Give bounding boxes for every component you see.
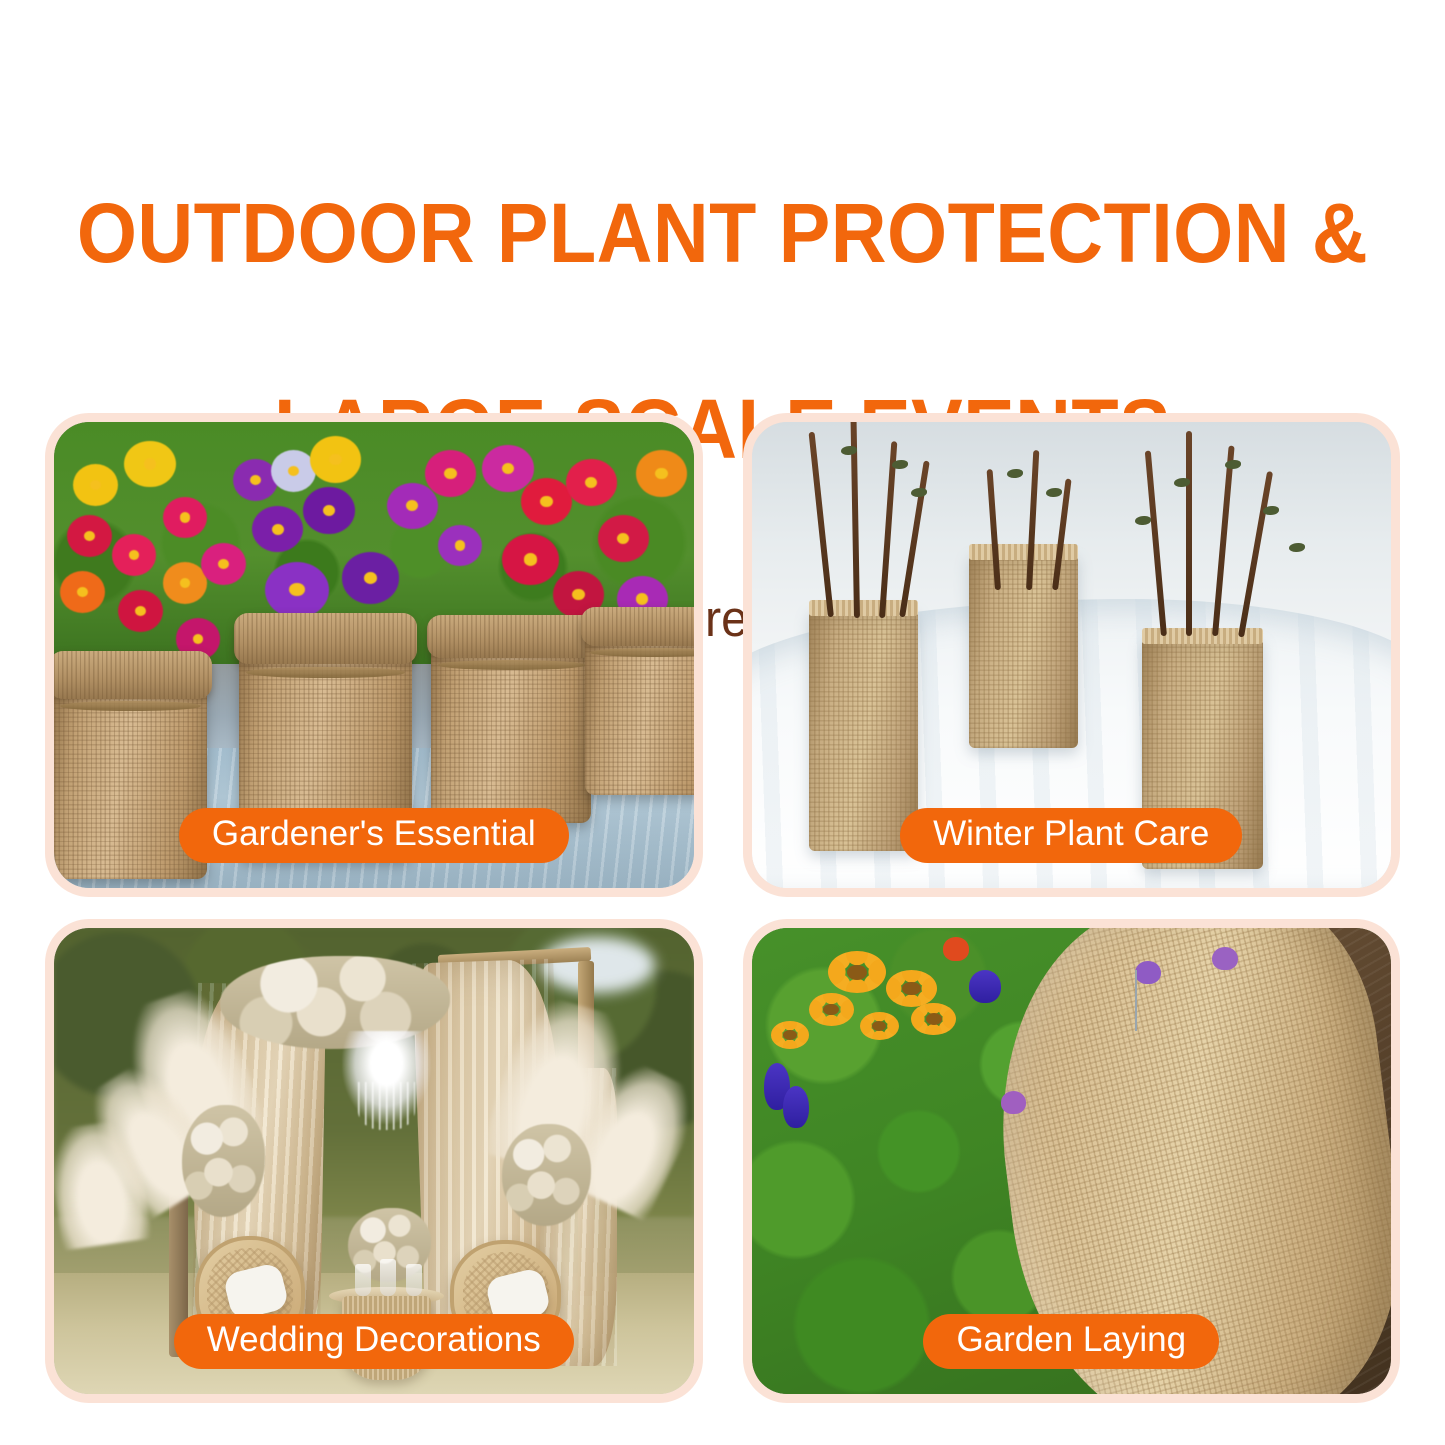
caption-badge-garden-laying: Garden Laying [923,1314,1219,1369]
flower-bloom [521,478,572,525]
sapling-leaf [1263,506,1279,515]
feature-grid: Gardener's Essential [45,413,1400,1403]
blue-flower [783,1086,809,1128]
sack-twine [60,701,201,712]
flower-bloom [310,436,361,483]
sapling-leaf [892,460,908,469]
flower-bloom [118,590,163,632]
blue-flower [969,970,1001,1003]
flower-bloom [67,515,112,557]
sapling-leaf [1225,460,1241,469]
flower-bloom [425,450,476,497]
blue-flower [1135,961,1161,984]
blue-flower [943,937,969,960]
flower-bloom [598,515,649,562]
orange-daisy [860,1012,898,1040]
orange-daisy [771,1021,809,1049]
flower-bloom [482,445,533,492]
burlap-wrap-bag [969,552,1078,748]
header: OUTDOOR PLANT PROTECTION & LARGE-SCALE E… [0,0,1445,400]
orange-daisy [809,993,854,1026]
sapling-branch [1186,431,1192,636]
sapling-leaf [1289,543,1305,552]
sack-cuff [581,607,694,646]
plant-marker [1135,970,1137,1031]
flower-bloom [73,464,118,506]
sack-twine [246,667,405,679]
headline-line-1: OUTDOOR PLANT PROTECTION & [58,184,1387,282]
feature-panel-garden-laying[interactable]: Garden Laying [743,919,1401,1403]
flower-bloom [201,543,246,585]
caption-badge-gardeners-essential: Gardener's Essential [179,808,569,863]
flower-bloom [112,534,157,576]
burlap-sack [585,618,694,795]
flower-bloom [60,571,105,613]
flower-bloom [636,450,687,497]
sapling-leaf [1007,469,1023,478]
sack-twine [590,648,693,657]
sapling-leaf [911,488,927,497]
flower-bloom [342,552,400,603]
glass-vase [355,1264,371,1297]
flower-bloom [265,562,329,618]
sapling-leaf [1046,488,1062,497]
glass-vase [406,1264,422,1297]
flower-bloom [566,459,617,506]
glass-vase [380,1259,396,1296]
orange-daisy [828,951,886,993]
flower-bloom [387,483,438,530]
caption-badge-winter-plant-care: Winter Plant Care [900,808,1242,863]
sapling-leaf [841,446,857,455]
caption-badge-wedding-decorations: Wedding Decorations [174,1314,574,1369]
feature-panel-winter-plant-care[interactable]: Winter Plant Care [743,413,1401,897]
sapling-leaf [1135,516,1151,525]
caption-wrap: Gardener's Essential [54,808,694,863]
pampas-grass [54,1118,152,1250]
flower-bloom [502,534,560,585]
flower-bloom [303,487,354,534]
feature-panel-wedding-decorations[interactable]: Wedding Decorations [45,919,703,1403]
blue-flower [1001,1091,1027,1114]
feature-panel-gardeners-essential[interactable]: Gardener's Essential [45,413,703,897]
burlap-sack [431,627,591,823]
caption-wrap: Winter Plant Care [752,808,1392,863]
flower-bloom [124,441,175,488]
sack-cuff [234,613,417,664]
orange-daisy [911,1003,956,1036]
orange-daisy [886,970,937,1007]
crystal-chandelier [342,1031,432,1124]
sack-twine [438,660,585,670]
sack-cuff [54,651,212,698]
caption-wrap: Garden Laying [752,1314,1392,1369]
blue-flower [1212,947,1238,970]
sky-patch [540,937,655,993]
caption-wrap: Wedding Decorations [54,1314,694,1369]
sapling-branch [809,432,834,618]
sack-cuff [427,615,596,658]
sapling-branch [899,461,930,618]
